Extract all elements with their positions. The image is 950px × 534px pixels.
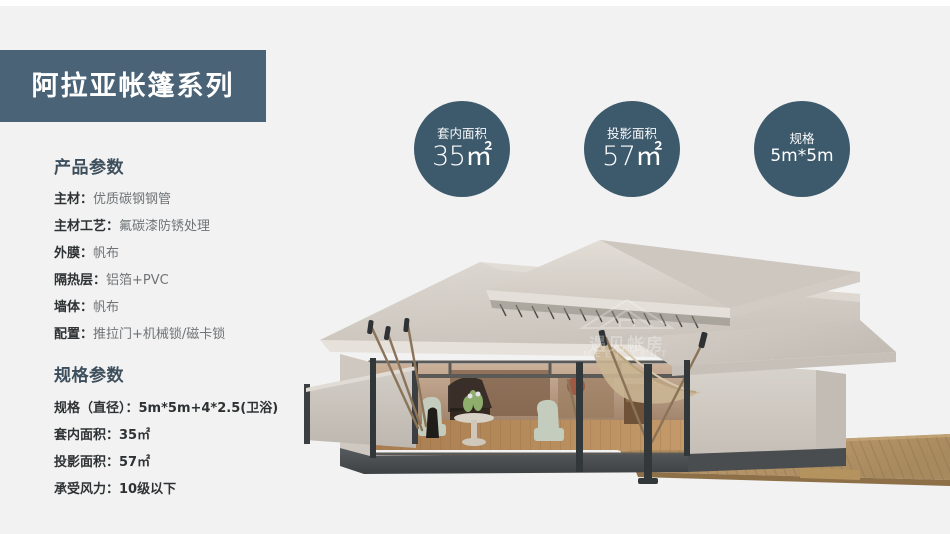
product-params-heading: 产品参数 — [54, 158, 354, 178]
param-label: 墙体： — [54, 300, 93, 315]
param-label: 规格（直径）： — [54, 401, 139, 416]
slide-canvas: 阿拉亚帐篷系列 产品参数 主材：优质碳钢钢管 主材工艺：氟碳漆防锈处理 外膜：帆… — [0, 0, 950, 534]
stat-circle-interior-area: 套内面积 35㎡ — [414, 101, 510, 197]
title-banner: 阿拉亚帐篷系列 — [0, 50, 266, 122]
stat-label: 投影面积 — [607, 127, 657, 141]
param-value: 57㎡ — [119, 455, 150, 470]
param-value: 帆布 — [93, 246, 119, 261]
param-label: 投影面积： — [54, 455, 119, 470]
param-label: 隔热层： — [54, 273, 106, 288]
param-value: 35㎡ — [119, 428, 150, 443]
param-value: 5m*5m+4*2.5(卫浴) — [139, 401, 279, 416]
stat-value: 57㎡ — [602, 143, 662, 171]
param-label: 主材： — [54, 192, 93, 207]
param-label: 主材工艺： — [54, 219, 119, 234]
param-value: 10级以下 — [119, 482, 176, 497]
tent-illustration — [300, 234, 950, 496]
stat-label: 套内面积 — [437, 127, 487, 141]
param-label: 外膜： — [54, 246, 93, 261]
stat-label: 规格 — [789, 132, 814, 146]
param-value: 帆布 — [93, 300, 119, 315]
param-row: 主材：优质碳钢钢管 — [54, 186, 354, 213]
page-title: 阿拉亚帐篷系列 — [32, 73, 235, 100]
stat-circle-dimensions: 规格 5m*5m — [754, 101, 850, 197]
param-value: 铝箔+PVC — [106, 273, 169, 288]
stat-circle-projected-area: 投影面积 57㎡ — [584, 101, 680, 197]
param-label: 配置： — [54, 327, 93, 342]
tent-product-image: 遇见帐房 MEET TENT — [300, 234, 950, 496]
stat-value: 5m*5m — [770, 148, 833, 166]
param-value: 推拉门+机械锁/磁卡锁 — [93, 327, 225, 342]
stat-value: 35㎡ — [432, 143, 492, 171]
param-value: 氟碳漆防锈处理 — [119, 219, 210, 234]
param-value: 优质碳钢钢管 — [93, 192, 171, 207]
param-label: 套内面积： — [54, 428, 119, 443]
param-label: 承受风力： — [54, 482, 119, 497]
